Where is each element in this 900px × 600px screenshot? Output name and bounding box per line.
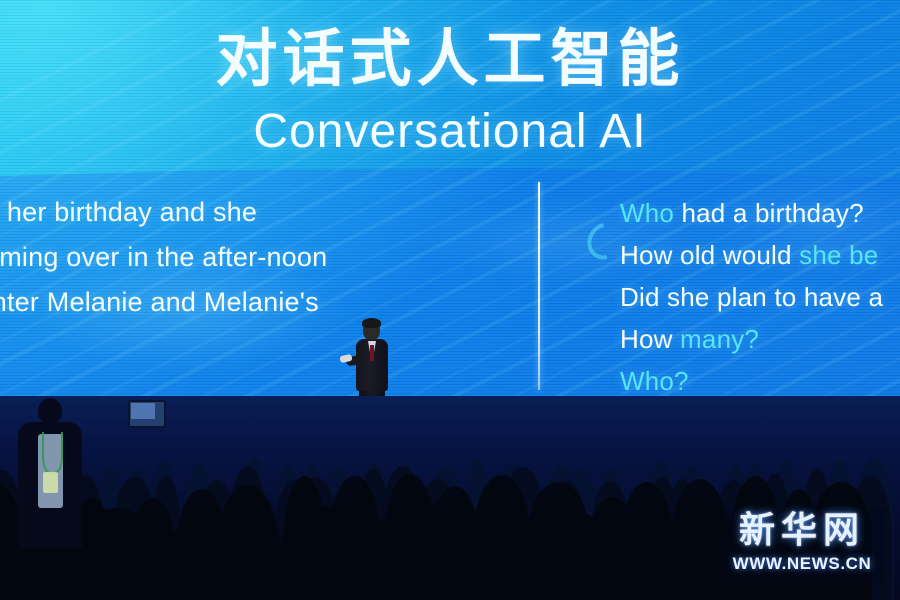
passage-text-block: ay was her birthday and shewas coming ov… <box>0 190 524 325</box>
column-divider <box>538 182 540 390</box>
question-4-segment-1: How <box>620 324 680 354</box>
watermark-name: 新华网 <box>718 510 886 552</box>
speaker-tie <box>370 345 374 361</box>
question-2-segment-2: she be <box>799 240 878 270</box>
standing-attendee <box>16 398 82 548</box>
question-4-segment-2: many? <box>680 324 759 354</box>
standing-attendee-head <box>38 398 62 425</box>
question-line-1: Who had a birthday? <box>620 192 900 234</box>
audience-head <box>344 519 419 600</box>
lanyard-icon <box>42 432 63 474</box>
question-1-segment-2: had a birthday? <box>681 198 863 228</box>
slide-title-english: Conversational AI <box>0 104 900 160</box>
watermark-url: WWW.NEWS.CN <box>718 554 886 574</box>
conference-stage-photo: 对话式人工智能 Conversational AI ay was her bir… <box>0 0 900 600</box>
question-line-2: How old would she be <box>620 234 900 276</box>
question-5-segment-1: Who? <box>620 366 689 396</box>
audience-head <box>550 512 607 600</box>
speaker-hair <box>362 318 381 328</box>
audience-head <box>488 520 540 600</box>
question-line-3: Did she plan to have a <box>620 276 900 318</box>
passage-line-1: ay was her birthday and she <box>0 190 524 235</box>
question-list: Who had a birthday?How old would she beD… <box>620 192 900 402</box>
passage-line-2: was coming over in the after-noon <box>0 235 524 280</box>
audience-head <box>224 500 281 600</box>
audience-head <box>77 508 156 600</box>
question-2-segment-1: How old would <box>620 240 799 270</box>
audience-head <box>602 524 662 600</box>
watermark: 新华网 WWW.NEWS.CN <box>718 508 886 584</box>
audience-head <box>421 495 484 600</box>
question-1-segment-1: Who <box>620 198 681 228</box>
slide-title-chinese: 对话式人工智能 <box>0 22 900 96</box>
question-3-segment-1: Did she plan to have a <box>620 282 883 312</box>
question-line-4: How many? <box>620 318 900 360</box>
passage-line-3: r daughter Melanie and Melanie's <box>0 280 524 325</box>
audience-head <box>166 519 228 600</box>
phone-screen-glow <box>131 403 155 419</box>
led-presentation-screen: 对话式人工智能 Conversational AI ay was her bir… <box>0 0 900 450</box>
badge-icon <box>43 472 58 493</box>
